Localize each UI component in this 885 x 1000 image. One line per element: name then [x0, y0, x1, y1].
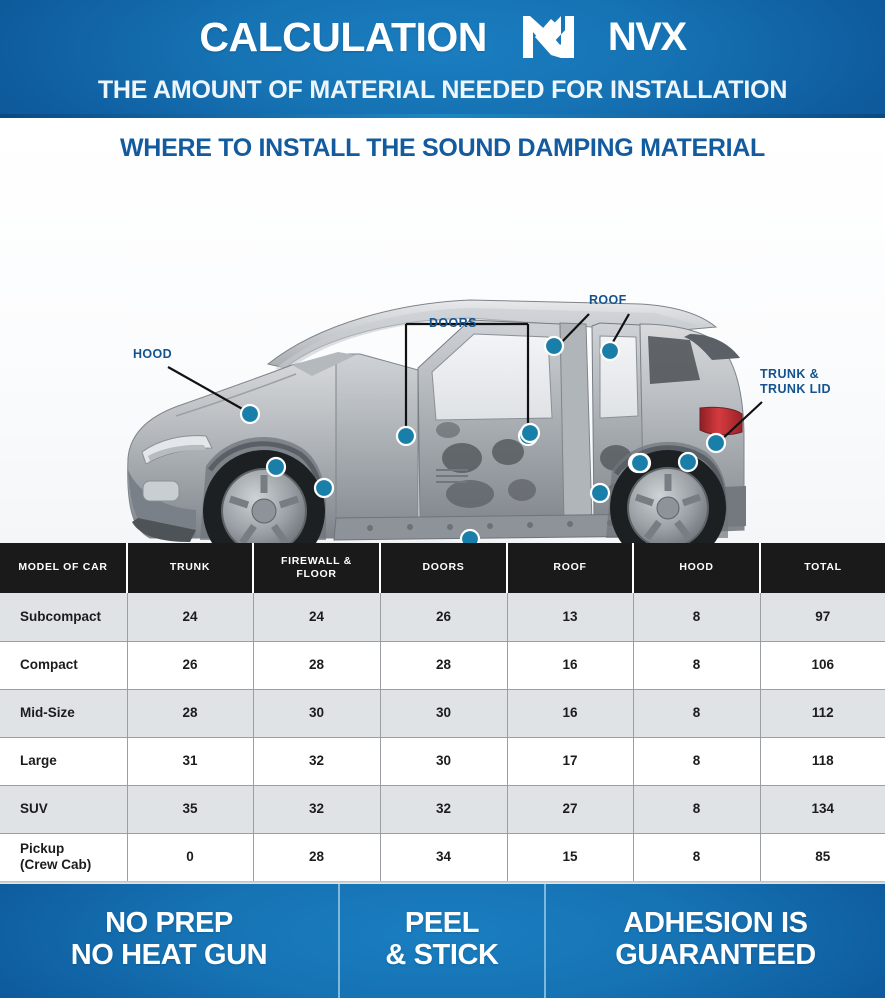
cell-roof: 17	[507, 737, 633, 785]
marker-trunk	[707, 434, 725, 452]
col-header-firewall-floor: FIREWALL & FLOOR	[253, 543, 380, 593]
infographic-page: CALCULATION NVX THE AMOUNT OF MATERIAL N…	[0, 0, 885, 1000]
callout-hood: HOOD	[133, 347, 172, 362]
cell-total: 112	[760, 689, 885, 737]
table-row: Subcompact 24 24 26 13 8 97	[0, 593, 885, 641]
cell-firewall-floor: 28	[253, 641, 380, 689]
col-header-hood: HOOD	[633, 543, 760, 593]
cell-firewall-floor: 32	[253, 737, 380, 785]
cell-doors: 32	[380, 785, 507, 833]
cell-trunk: 26	[127, 641, 253, 689]
material-table: MODEL OF CAR TRUNK FIREWALL & FLOOR DOOR…	[0, 543, 885, 881]
cell-firewall-floor: 30	[253, 689, 380, 737]
brand-logo-text: NVX	[608, 17, 686, 57]
footer-banner: NO PREP NO HEAT GUN PEEL & STICK ADHESIO…	[0, 881, 885, 998]
table-row: Pickup (Crew Cab) 0 28 34 15 8 85	[0, 833, 885, 881]
header-subtitle: THE AMOUNT OF MATERIAL NEEDED FOR INSTAL…	[0, 78, 885, 103]
cell-model: Compact	[0, 641, 127, 689]
cell-trunk: 35	[127, 785, 253, 833]
cell-hood: 8	[633, 641, 760, 689]
cell-firewall-floor: 28	[253, 833, 380, 881]
vehicle-diagram-section: WHERE TO INSTALL THE SOUND DAMPING MATER…	[0, 118, 885, 543]
cell-model: Pickup (Crew Cab)	[0, 833, 127, 881]
cell-firewall-floor: 32	[253, 785, 380, 833]
cell-model: Large	[0, 737, 127, 785]
cell-hood: 8	[633, 737, 760, 785]
footer-item-adhesion: ADHESION IS GUARANTEED	[546, 881, 885, 998]
cell-roof: 16	[507, 641, 633, 689]
footer-item-peel-stick: PEEL & STICK	[338, 881, 546, 998]
cell-total: 134	[760, 785, 885, 833]
col-header-total: TOTAL	[760, 543, 885, 593]
table-row: SUV 35 32 32 27 8 134	[0, 785, 885, 833]
marker-firewall	[315, 479, 333, 497]
col-header-trunk: TRUNK	[127, 543, 253, 593]
cell-doors: 28	[380, 641, 507, 689]
cell-roof: 13	[507, 593, 633, 641]
cell-total: 97	[760, 593, 885, 641]
col-header-model: MODEL OF CAR	[0, 543, 127, 593]
header-title-row: CALCULATION NVX	[0, 14, 885, 60]
cell-hood: 8	[633, 785, 760, 833]
table-row: Compact 26 28 28 16 8 106	[0, 641, 885, 689]
xnvx-bowtie-icon	[521, 14, 607, 60]
cell-trunk: 24	[127, 593, 253, 641]
cell-total: 85	[760, 833, 885, 881]
col-header-roof: ROOF	[507, 543, 633, 593]
marker-floor	[461, 530, 479, 543]
table-header-row: MODEL OF CAR TRUNK FIREWALL & FLOOR DOOR…	[0, 543, 885, 593]
cell-model: SUV	[0, 785, 127, 833]
cell-model: Subcompact	[0, 593, 127, 641]
cell-total: 106	[760, 641, 885, 689]
brand-logo: NVX	[521, 14, 686, 60]
cell-hood: 8	[633, 833, 760, 881]
cell-firewall-floor: 24	[253, 593, 380, 641]
callout-roof: ROOF	[589, 293, 627, 308]
cell-doors: 30	[380, 737, 507, 785]
material-table-wrapper: MODEL OF CAR TRUNK FIREWALL & FLOOR DOOR…	[0, 543, 885, 881]
footer-item-no-prep: NO PREP NO HEAT GUN	[0, 881, 338, 998]
cell-doors: 30	[380, 689, 507, 737]
marker-front-door	[397, 427, 415, 445]
marker-front-wheel-well	[267, 458, 285, 476]
cell-roof: 27	[507, 785, 633, 833]
cell-hood: 8	[633, 593, 760, 641]
marker-roof	[545, 337, 563, 355]
cell-total: 118	[760, 737, 885, 785]
callout-trunk: TRUNK & TRUNK LID	[760, 367, 831, 397]
cell-doors: 34	[380, 833, 507, 881]
cell-hood: 8	[633, 689, 760, 737]
table-row: Large 31 32 30 17 8 118	[0, 737, 885, 785]
cell-roof: 16	[507, 689, 633, 737]
header-banner: CALCULATION NVX THE AMOUNT OF MATERIAL N…	[0, 0, 885, 118]
cell-trunk: 31	[127, 737, 253, 785]
callout-doors: DOORS	[429, 316, 477, 331]
page-title: CALCULATION	[199, 17, 487, 58]
col-header-doors: DOORS	[380, 543, 507, 593]
cell-model: Mid-Size	[0, 689, 127, 737]
cell-trunk: 28	[127, 689, 253, 737]
marker-hood	[241, 405, 259, 423]
cell-trunk: 0	[127, 833, 253, 881]
marker-rear-wheel-well	[591, 484, 609, 502]
cell-doors: 26	[380, 593, 507, 641]
cell-roof: 15	[507, 833, 633, 881]
table-row: Mid-Size 28 30 30 16 8 112	[0, 689, 885, 737]
